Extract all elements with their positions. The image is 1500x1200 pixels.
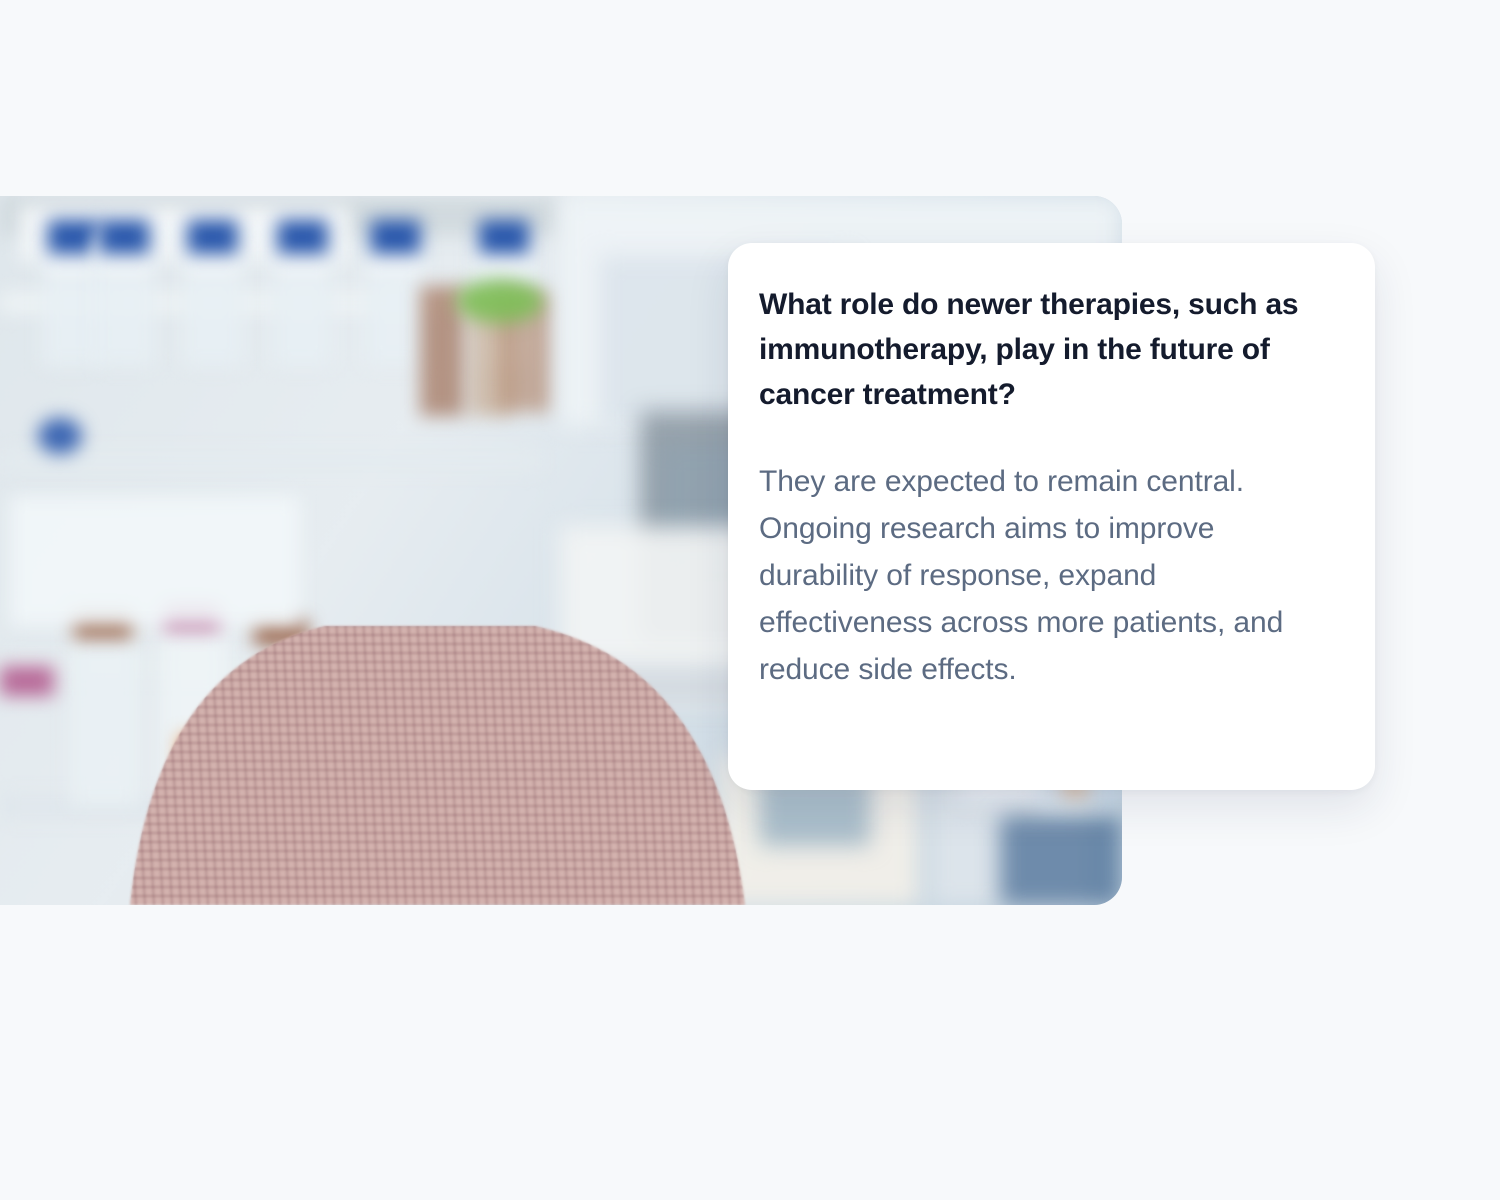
- qa-answer-text: They are expected to remain central. Ong…: [759, 458, 1319, 693]
- qa-card-content: What role do newer therapies, such as im…: [759, 282, 1319, 693]
- qa-callout-stage: What role do newer therapies, such as im…: [0, 0, 1500, 1200]
- qa-question-text: What role do newer therapies, such as im…: [759, 282, 1319, 417]
- qa-card: What role do newer therapies, such as im…: [728, 243, 1375, 790]
